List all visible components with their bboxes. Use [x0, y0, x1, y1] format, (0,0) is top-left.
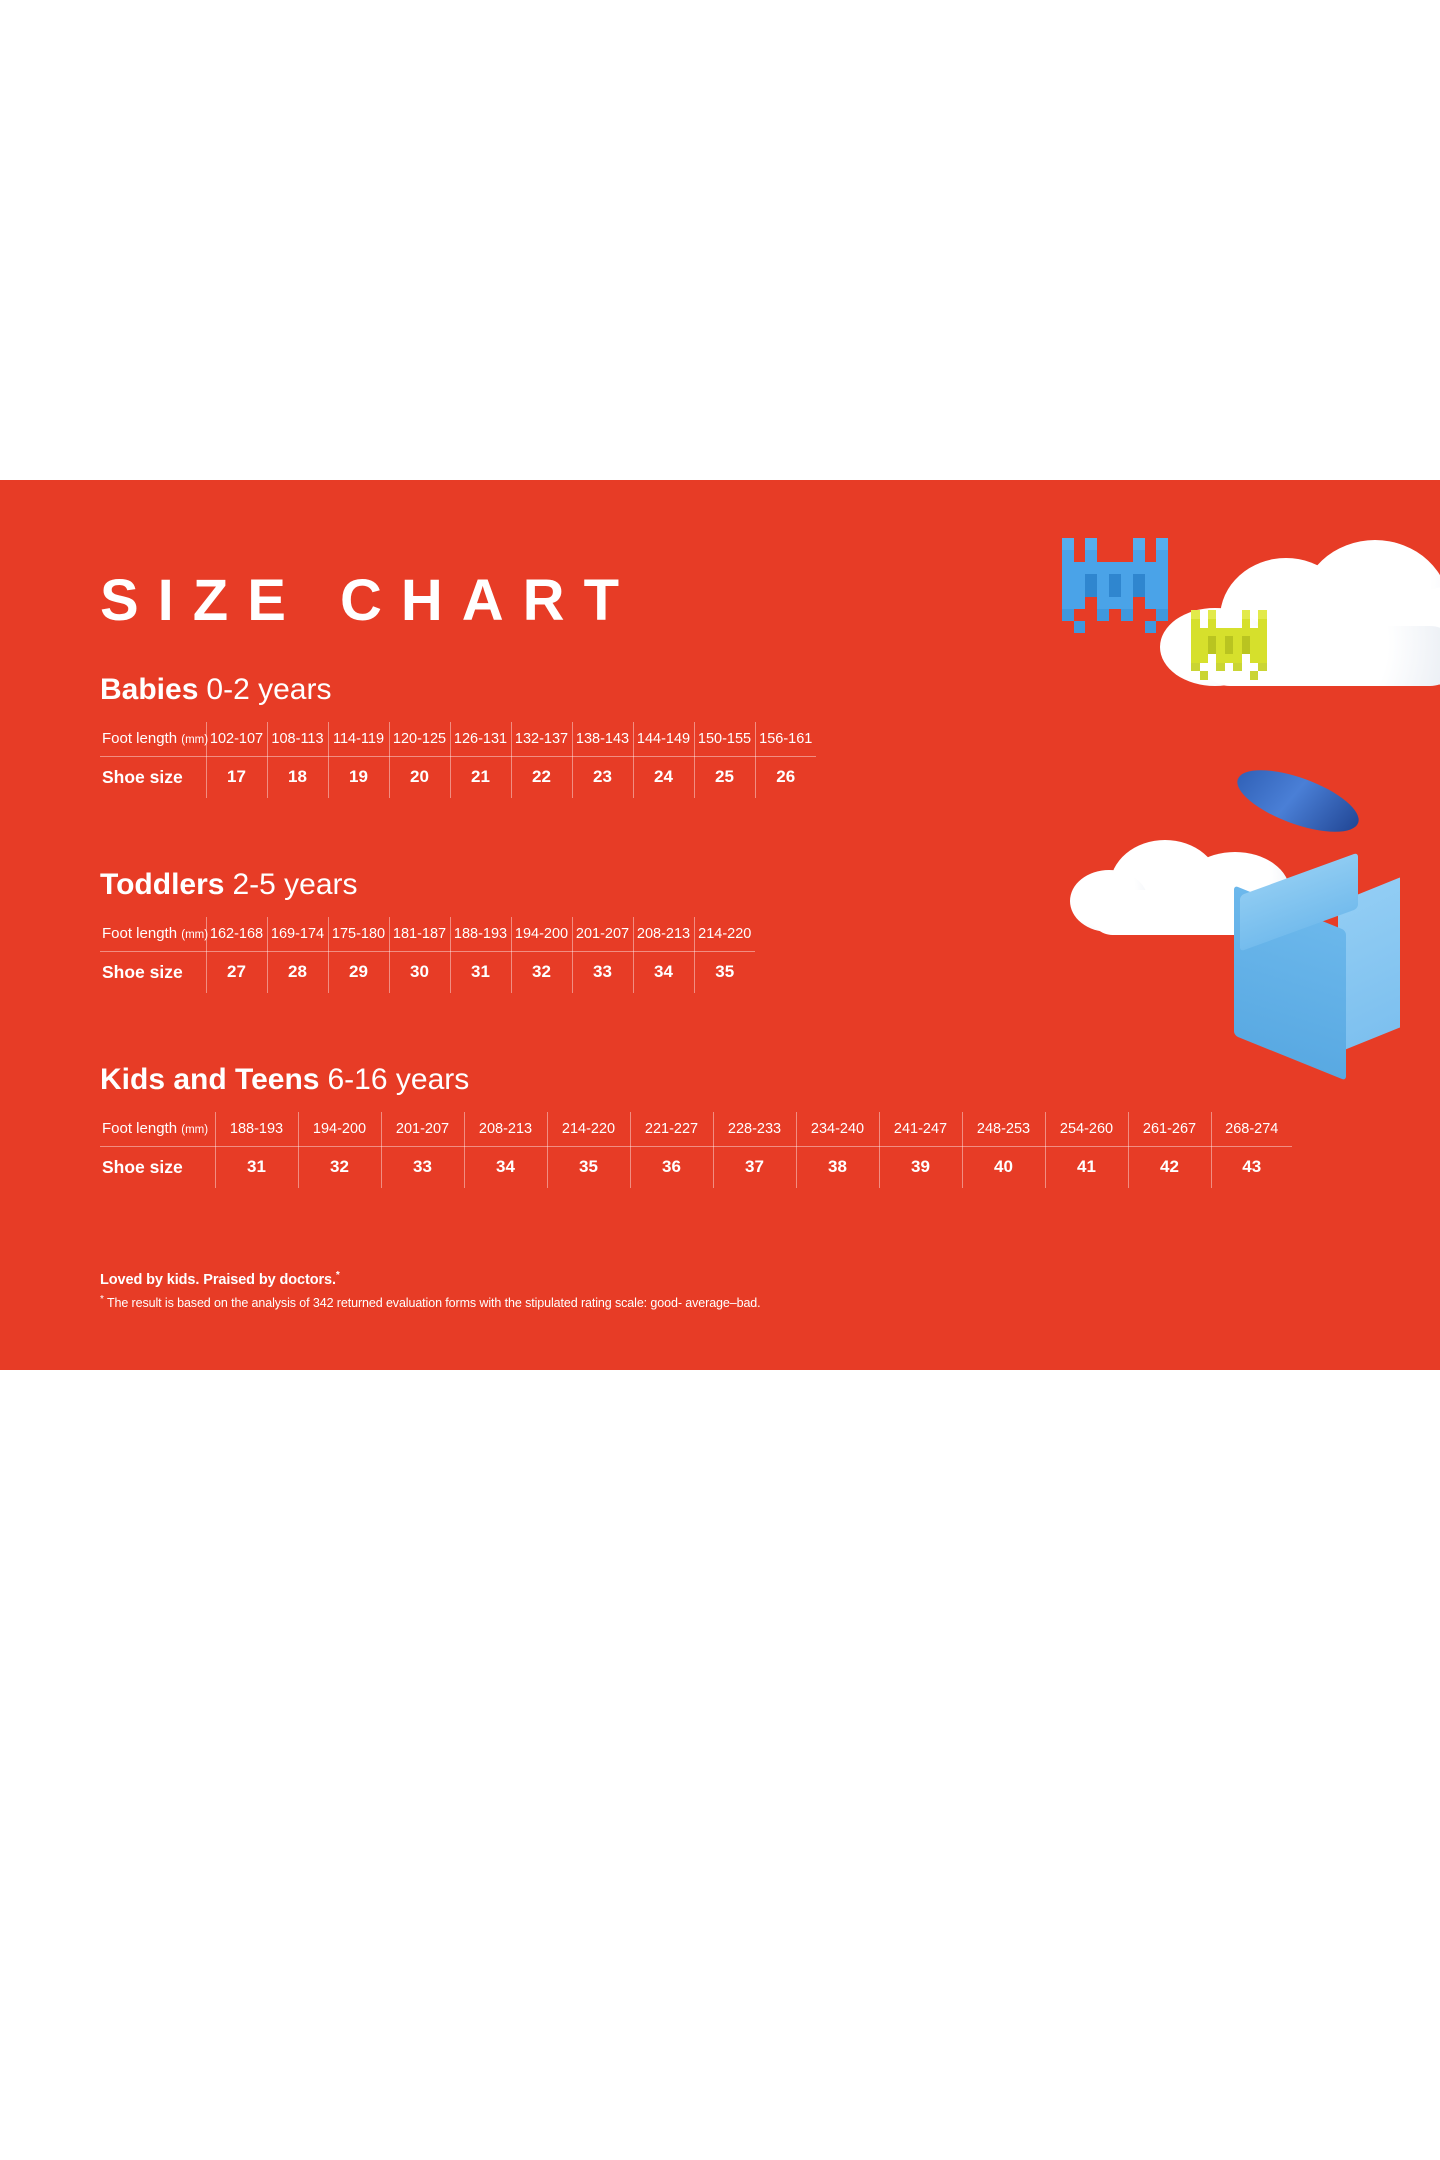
- size-chart-page: SIZE CHART Babies0-2 years Foot length (…: [0, 0, 1440, 2160]
- cell-shoe-size: 42: [1128, 1146, 1211, 1188]
- cell-shoe-size: 35: [547, 1146, 630, 1188]
- row-header-shoe-size: Shoe size: [100, 951, 206, 993]
- table-row: Foot length (mm) 188-193 194-200 201-207…: [100, 1112, 1292, 1146]
- cell-foot-length: 268-274: [1211, 1112, 1292, 1146]
- size-table-toddlers: Foot length (mm) 162-168 169-174 175-180…: [100, 917, 755, 993]
- cell-shoe-size: 22: [511, 756, 572, 798]
- section-heading: Babies0-2 years: [100, 675, 816, 705]
- footnote: Loved by kids. Praised by doctors.* * Th…: [100, 1270, 761, 1310]
- cloud-icon: [1070, 840, 1310, 940]
- cell-foot-length: 132-137: [511, 722, 572, 756]
- table-row: Shoe size 17 18 19 20 21 22 23 24 25 26: [100, 756, 816, 798]
- section-age-label: 2-5 years: [232, 868, 357, 901]
- cell-foot-length: 228-233: [713, 1112, 796, 1146]
- cell-foot-length: 138-143: [572, 722, 633, 756]
- cell-foot-length: 214-220: [547, 1112, 630, 1146]
- section-kids-and-teens: Kids and Teens6-16 years Foot length (mm…: [100, 1065, 1292, 1188]
- page-title: SIZE CHART: [100, 572, 638, 630]
- cell-foot-length: 114-119: [328, 722, 389, 756]
- cell-foot-length: 102-107: [206, 722, 267, 756]
- footnote-disclaimer-text: The result is based on the analysis of 3…: [104, 1296, 761, 1310]
- cell-shoe-size: 21: [450, 756, 511, 798]
- cell-foot-length: 261-267: [1128, 1112, 1211, 1146]
- table-row: Shoe size 31 32 33 34 35 36 37 38 39 40 …: [100, 1146, 1292, 1188]
- cell-shoe-size: 30: [389, 951, 450, 993]
- cell-foot-length: 241-247: [879, 1112, 962, 1146]
- foot-length-unit: (mm): [181, 734, 208, 746]
- cell-shoe-size: 31: [215, 1146, 298, 1188]
- cell-shoe-size: 26: [755, 756, 816, 798]
- section-group-label: Toddlers: [100, 868, 224, 901]
- cell-foot-length: 188-193: [450, 917, 511, 951]
- cell-shoe-size: 29: [328, 951, 389, 993]
- cell-shoe-size: 37: [713, 1146, 796, 1188]
- cell-foot-length: 254-260: [1045, 1112, 1128, 1146]
- table-row: Shoe size 27 28 29 30 31 32 33 34 35: [100, 951, 755, 993]
- size-table-kids-and-teens: Foot length (mm) 188-193 194-200 201-207…: [100, 1112, 1292, 1188]
- cell-foot-length: 126-131: [450, 722, 511, 756]
- foot-length-label: Foot length: [102, 730, 177, 747]
- cell-shoe-size: 34: [464, 1146, 547, 1188]
- cell-shoe-size: 28: [267, 951, 328, 993]
- cell-shoe-size: 25: [694, 756, 755, 798]
- cell-foot-length: 194-200: [511, 917, 572, 951]
- cell-shoe-size: 41: [1045, 1146, 1128, 1188]
- cell-shoe-size: 33: [572, 951, 633, 993]
- foot-length-unit: (mm): [181, 1124, 208, 1136]
- cell-shoe-size: 32: [298, 1146, 381, 1188]
- cell-foot-length: 169-174: [267, 917, 328, 951]
- section-age-label: 0-2 years: [206, 673, 331, 706]
- cell-foot-length: 194-200: [298, 1112, 381, 1146]
- cell-shoe-size: 24: [633, 756, 694, 798]
- bottom-right-decoration: [1060, 770, 1440, 1090]
- section-group-label: Kids and Teens: [100, 1063, 320, 1096]
- section-age-label: 6-16 years: [328, 1063, 470, 1096]
- cell-foot-length: 120-125: [389, 722, 450, 756]
- cell-foot-length: 208-213: [464, 1112, 547, 1146]
- row-header-foot-length: Foot length (mm): [100, 722, 206, 756]
- cell-foot-length: 201-207: [572, 917, 633, 951]
- toy-block-icon: [1210, 770, 1440, 1090]
- cell-shoe-size: 27: [206, 951, 267, 993]
- cell-foot-length: 201-207: [381, 1112, 464, 1146]
- row-header-foot-length: Foot length (mm): [100, 1112, 215, 1146]
- cell-shoe-size: 38: [796, 1146, 879, 1188]
- cloud-icon: [1160, 540, 1440, 690]
- cell-foot-length: 175-180: [328, 917, 389, 951]
- cell-shoe-size: 39: [879, 1146, 962, 1188]
- footnote-headline-text: Loved by kids. Praised by doctors.: [100, 1272, 336, 1288]
- cell-foot-length: 248-253: [962, 1112, 1045, 1146]
- cell-shoe-size: 23: [572, 756, 633, 798]
- cell-shoe-size: 18: [267, 756, 328, 798]
- foot-length-unit: (mm): [181, 929, 208, 941]
- cell-foot-length: 156-161: [755, 722, 816, 756]
- top-right-decoration: [1040, 520, 1440, 720]
- section-heading: Toddlers2-5 years: [100, 870, 755, 900]
- cell-shoe-size: 19: [328, 756, 389, 798]
- table-row: Foot length (mm) 102-107 108-113 114-119…: [100, 722, 816, 756]
- cell-shoe-size: 40: [962, 1146, 1045, 1188]
- cell-shoe-size: 33: [381, 1146, 464, 1188]
- invader-yellow-icon: [1183, 610, 1275, 680]
- size-table-babies: Foot length (mm) 102-107 108-113 114-119…: [100, 722, 816, 798]
- section-toddlers: Toddlers2-5 years Foot length (mm) 162-1…: [100, 870, 755, 993]
- cell-shoe-size: 43: [1211, 1146, 1292, 1188]
- foot-length-label: Foot length: [102, 925, 177, 942]
- cell-foot-length: 214-220: [694, 917, 755, 951]
- foot-length-label: Foot length: [102, 1120, 177, 1137]
- section-group-label: Babies: [100, 673, 198, 706]
- cell-shoe-size: 31: [450, 951, 511, 993]
- cell-shoe-size: 17: [206, 756, 267, 798]
- row-header-shoe-size: Shoe size: [100, 1146, 215, 1188]
- footnote-headline: Loved by kids. Praised by doctors.*: [100, 1270, 761, 1288]
- cell-foot-length: 150-155: [694, 722, 755, 756]
- section-heading: Kids and Teens6-16 years: [100, 1065, 1292, 1095]
- invader-blue-icon: [1050, 538, 1180, 633]
- table-row: Foot length (mm) 162-168 169-174 175-180…: [100, 917, 755, 951]
- row-header-foot-length: Foot length (mm): [100, 917, 206, 951]
- red-panel: SIZE CHART Babies0-2 years Foot length (…: [0, 480, 1440, 1370]
- cell-foot-length: 221-227: [630, 1112, 713, 1146]
- cell-foot-length: 188-193: [215, 1112, 298, 1146]
- cell-shoe-size: 32: [511, 951, 572, 993]
- cell-shoe-size: 34: [633, 951, 694, 993]
- cell-foot-length: 144-149: [633, 722, 694, 756]
- cell-foot-length: 162-168: [206, 917, 267, 951]
- cell-shoe-size: 36: [630, 1146, 713, 1188]
- cell-foot-length: 108-113: [267, 722, 328, 756]
- row-header-shoe-size: Shoe size: [100, 756, 206, 798]
- footnote-disclaimer: * The result is based on the analysis of…: [100, 1294, 761, 1310]
- cell-shoe-size: 20: [389, 756, 450, 798]
- cell-foot-length: 181-187: [389, 917, 450, 951]
- footnote-headline-marker: *: [336, 1270, 340, 1281]
- cell-foot-length: 208-213: [633, 917, 694, 951]
- cell-foot-length: 234-240: [796, 1112, 879, 1146]
- section-babies: Babies0-2 years Foot length (mm) 102-107…: [100, 675, 816, 798]
- cell-shoe-size: 35: [694, 951, 755, 993]
